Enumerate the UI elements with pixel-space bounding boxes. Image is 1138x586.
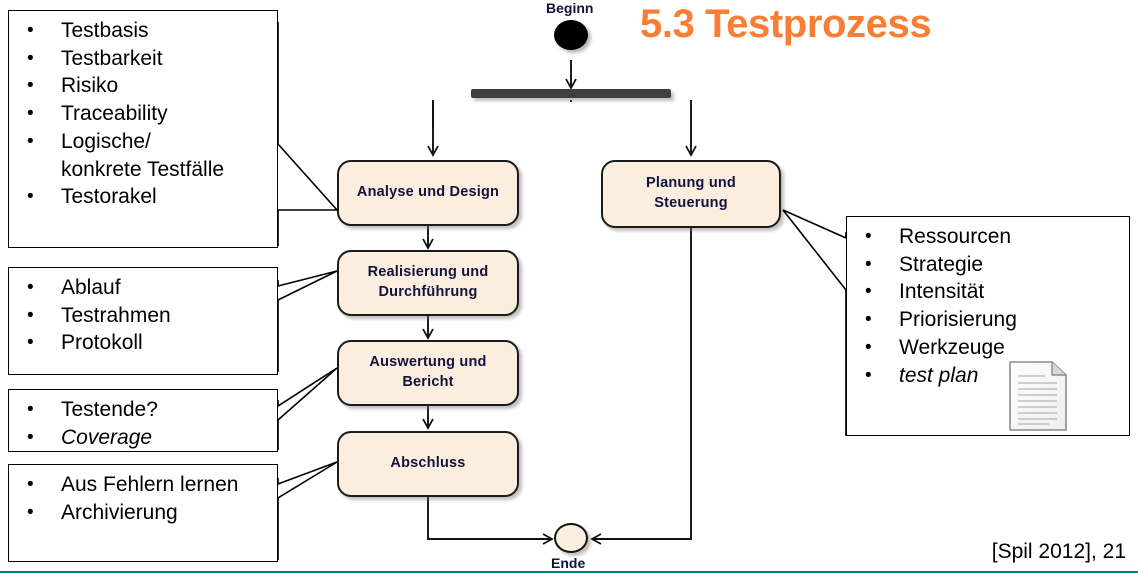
slide-canvas: 5.3 Testprozess (0, 0, 1138, 586)
activity-label: Planung undSteuerung (646, 174, 736, 213)
list-item-text: Coverage (61, 426, 152, 449)
list-item-text: Testende? (61, 398, 158, 421)
callout-analyse-design: •Testbasis •Testbarkeit •Risiko •Traceab… (8, 10, 278, 248)
list-item: •Ressourcen (847, 223, 1129, 251)
list-item: •Testende? (9, 396, 277, 424)
document-icon (1007, 358, 1069, 434)
list-item: •Testbasis (9, 17, 277, 45)
bullet-glyph: • (27, 101, 34, 126)
list-item: •Intensität (847, 278, 1129, 306)
callout-abschluss: •Aus Fehlern lernen •Archivierung (8, 464, 278, 562)
list-item-text: konkrete Testfälle (61, 158, 224, 181)
list-item: •Strategie (847, 251, 1129, 279)
list-item: •Archivierung (9, 499, 277, 527)
bullet-glyph: • (27, 184, 34, 209)
end-node-label: Ende (551, 555, 585, 571)
callout-list: •Testbasis •Testbarkeit •Risiko •Traceab… (9, 11, 277, 211)
callout-list: •Aus Fehlern lernen •Archivierung (9, 465, 277, 526)
list-item-text: Aus Fehlern lernen (61, 473, 238, 496)
activity-label: Analyse und Design (357, 183, 499, 203)
list-item-text: Testbasis (61, 19, 149, 42)
list-item: •Testbarkeit (9, 45, 277, 73)
activity-label: Auswertung undBericht (369, 353, 486, 392)
activity-analyse-und-design[interactable]: Analyse und Design (337, 160, 519, 226)
bullet-glyph: • (27, 397, 34, 422)
list-item: •Testorakel (9, 183, 277, 211)
bullet-glyph: • (865, 224, 872, 249)
bullet-glyph: • (27, 330, 34, 355)
activity-realisierung-und-durchfuehrung[interactable]: Realisierung undDurchführung (337, 250, 519, 316)
fork-bar (471, 89, 671, 98)
bullet-glyph: • (865, 252, 872, 277)
bullet-glyph: • (27, 73, 34, 98)
start-node-label: Beginn (546, 0, 593, 16)
list-item-text: Ablauf (61, 276, 121, 299)
bullet-glyph: • (865, 363, 872, 388)
list-item-text: Protokoll (61, 331, 143, 354)
list-item-text: Logische/ (61, 130, 151, 153)
activity-planung-und-steuerung[interactable]: Planung undSteuerung (601, 160, 781, 228)
activity-abschluss[interactable]: Abschluss (337, 431, 519, 497)
callout-auswertung: •Testende? •Coverage (8, 389, 278, 452)
list-item-text: Werkzeuge (899, 336, 1005, 359)
list-item: •Werkzeuge (847, 334, 1129, 362)
list-item-text: test plan (899, 364, 978, 387)
list-item-text: Traceability (61, 102, 168, 125)
list-item: •Traceability (9, 100, 277, 128)
list-item: •Ablauf (9, 274, 277, 302)
bullet-glyph: • (27, 425, 34, 450)
callout-planung: •Ressourcen •Strategie •Intensität •Prio… (846, 216, 1130, 436)
list-item-continuation: konkrete Testfälle (9, 156, 277, 184)
end-node (554, 523, 588, 553)
list-item-text: Priorisierung (899, 308, 1017, 331)
bullet-glyph: • (27, 303, 34, 328)
list-item: •Logische/ (9, 128, 277, 156)
list-item-text: Testorakel (61, 185, 157, 208)
callout-list: •Ablauf •Testrahmen •Protokoll (9, 268, 277, 357)
list-item: •Coverage (9, 424, 277, 452)
list-item: •Risiko (9, 72, 277, 100)
callout-list: •Ressourcen •Strategie •Intensität •Prio… (847, 217, 1129, 389)
list-item-text: Intensität (899, 280, 984, 303)
list-item: •Protokoll (9, 329, 277, 357)
list-item: •Priorisierung (847, 306, 1129, 334)
start-node (554, 20, 588, 50)
activity-label: Realisierung undDurchführung (368, 263, 489, 302)
callout-list: •Testende? •Coverage (9, 390, 277, 451)
activity-label: Abschluss (390, 454, 465, 474)
list-item: •Testrahmen (9, 302, 277, 330)
bullet-glyph: • (27, 46, 34, 71)
list-item-text: Strategie (899, 253, 983, 276)
activity-auswertung-und-bericht[interactable]: Auswertung undBericht (337, 340, 519, 406)
list-item: •Aus Fehlern lernen (9, 471, 277, 499)
callout-realisierung: •Ablauf •Testrahmen •Protokoll (8, 267, 278, 375)
footer-divider (0, 571, 1138, 573)
bullet-glyph: • (27, 275, 34, 300)
bullet-glyph: • (27, 500, 34, 525)
bullet-glyph: • (865, 279, 872, 304)
bullet-glyph: • (865, 307, 872, 332)
list-item-text: Testbarkeit (61, 47, 163, 70)
footer-reference: [Spil 2012], 21 (992, 540, 1126, 564)
bullet-glyph: • (27, 472, 34, 497)
list-item-text: Testrahmen (61, 304, 171, 327)
list-item-text: Ressourcen (899, 225, 1011, 248)
list-item: •test plan (847, 362, 1129, 390)
bullet-glyph: • (27, 129, 34, 154)
list-item-text: Risiko (61, 74, 118, 97)
bullet-glyph: • (27, 18, 34, 43)
list-item-text: Archivierung (61, 501, 178, 524)
bullet-glyph: • (865, 335, 872, 360)
